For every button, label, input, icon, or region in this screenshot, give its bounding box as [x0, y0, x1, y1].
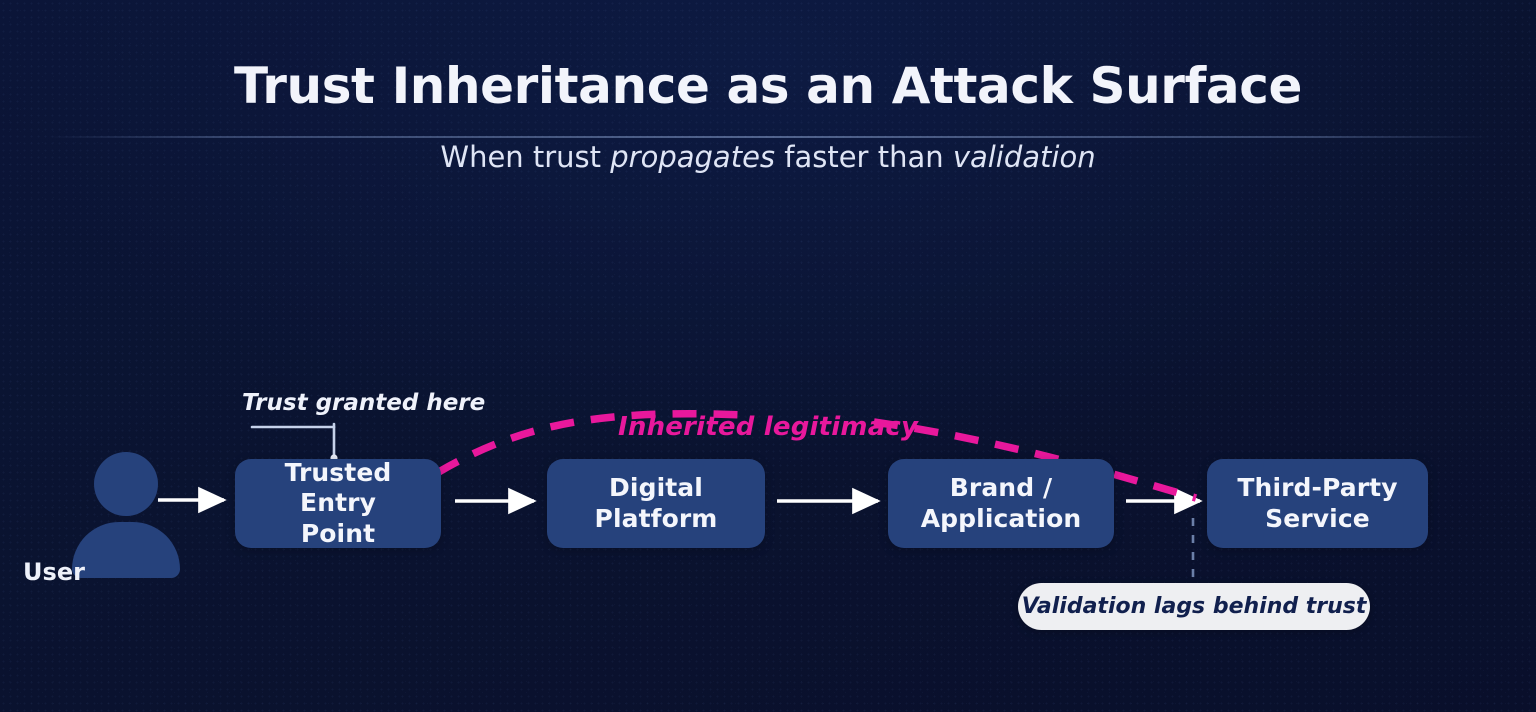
- node-digital-platform[interactable]: DigitalPlatform: [547, 459, 765, 548]
- flow-diagram: User Trusted EntryPoint DigitalPlatform …: [0, 0, 1536, 712]
- user-label: User: [0, 558, 116, 586]
- node-trusted-entry-point-label: Trusted EntryPoint: [245, 458, 431, 550]
- validation-lag-text: Validation lags behind trust: [1022, 594, 1367, 619]
- node-brand-application-label: Brand /Application: [921, 473, 1082, 534]
- annotation-validation-lag-pill: Validation lags behind trust: [1018, 583, 1370, 630]
- user-head-icon: [94, 452, 158, 516]
- node-brand-application[interactable]: Brand /Application: [888, 459, 1114, 548]
- node-digital-platform-label: DigitalPlatform: [595, 473, 718, 534]
- annotation-inherited-legitimacy: Inherited legitimacy: [618, 412, 918, 442]
- annotation-trust-granted: Trust granted here: [242, 390, 485, 416]
- trust-granted-connector: [252, 424, 338, 462]
- node-third-party-service-label: Third-PartyService: [1237, 473, 1397, 534]
- node-third-party-service[interactable]: Third-PartyService: [1207, 459, 1428, 548]
- slide-canvas: Trust Inheritance as an Attack Surface W…: [0, 0, 1536, 712]
- node-trusted-entry-point[interactable]: Trusted EntryPoint: [235, 459, 441, 548]
